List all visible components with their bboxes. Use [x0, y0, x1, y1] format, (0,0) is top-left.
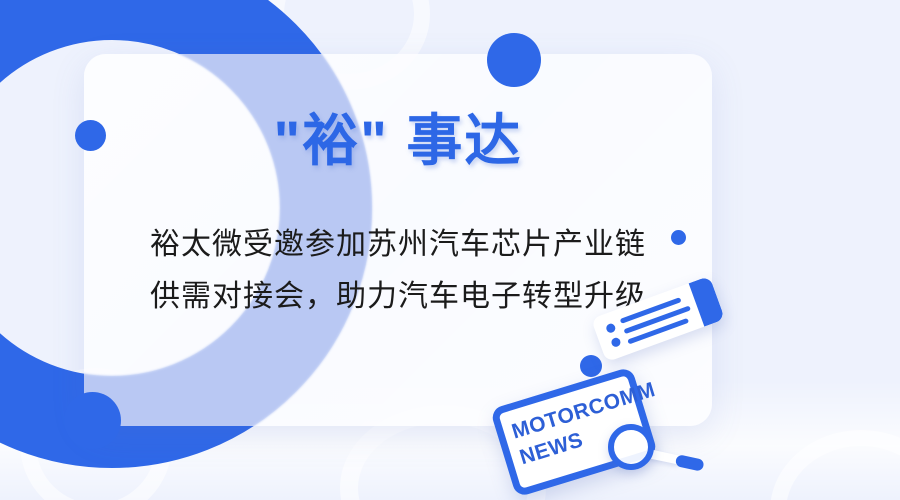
subtitle-line-1: 裕太微受邀参加苏州汽车芯片产业链: [84, 219, 712, 263]
news-banner-graphic: "裕" 事达 裕太微受邀参加苏州汽车芯片产业链 供需对接会，助力汽车电子转型升级…: [0, 0, 900, 500]
magnifier-lens: [608, 424, 654, 470]
blue-dot-icon: [75, 120, 106, 151]
blue-dot-icon: [64, 392, 121, 449]
blue-dot-icon: [671, 230, 686, 245]
page-title: "裕" 事达: [84, 96, 712, 177]
blue-dot-icon: [487, 33, 541, 87]
blue-dot-icon: [580, 355, 602, 377]
magnifier-handle-blue: [675, 454, 705, 472]
document-bullet: [610, 337, 622, 349]
magnifying-glass-icon: [608, 424, 704, 484]
document-bullet: [605, 322, 617, 334]
